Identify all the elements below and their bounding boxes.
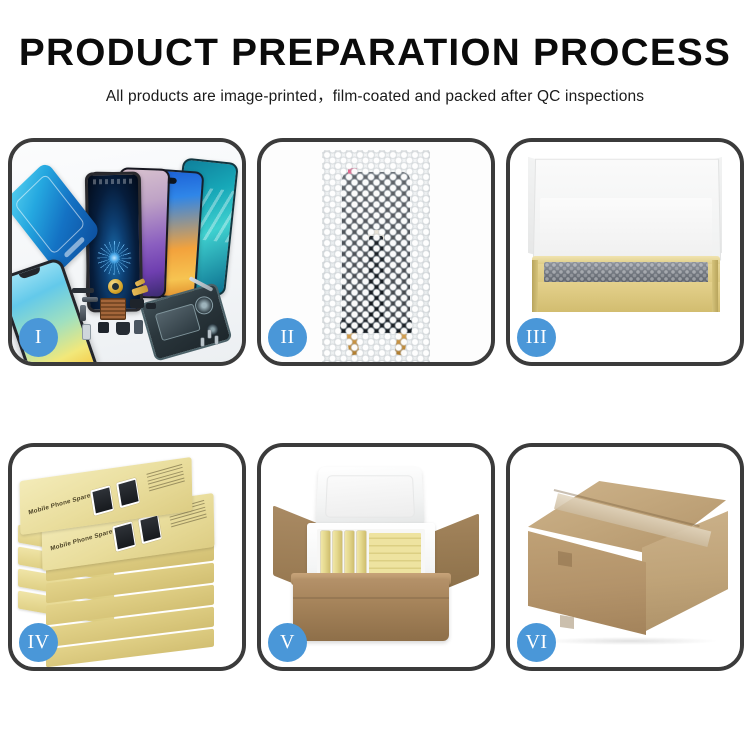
foam-case-lid [315,467,425,527]
screw-part [208,330,211,338]
packed-retail-box-group [369,533,421,575]
retail-box-spec-lines [146,464,185,494]
screw-part [201,338,204,346]
header: PRODUCT PREPARATION PROCESS All products… [0,0,750,106]
ic-chip-part [130,299,144,308]
process-step-panel-5[interactable]: V [257,443,495,671]
connector-part [82,297,98,302]
thumbnail-screen [140,516,160,542]
step-1-illustration: I [12,142,242,362]
step-badge-5: V [268,623,307,662]
process-step-panel-4[interactable]: Mobile Phone Spare Parts Mobile Phone Sp [8,443,246,671]
process-step-panel-2[interactable]: II [257,138,495,366]
step-6-illustration: VI [510,447,740,667]
step-4-illustration: Mobile Phone Spare Parts Mobile Phone Sp [12,447,242,667]
kraft-tray-corner-left [532,260,538,312]
vibrator-part [98,322,109,333]
packed-retail-box [357,531,366,575]
step-5-illustration: V [261,447,491,667]
battery-part [155,303,201,341]
carton-front-wall [293,579,449,641]
thumbnail-screen [118,480,138,506]
retail-box-thumbnail [112,521,136,552]
screw-part [215,336,218,344]
battery-connector-part [134,320,143,334]
step-2-illustration: II [261,142,491,362]
packed-retail-box [321,531,330,575]
kraft-tray-front-wall [532,282,720,312]
step-3-illustration: III [510,142,740,362]
step-badge-4: IV [19,623,58,662]
bubble-wrap-bag [322,150,430,362]
retail-box-thumbnail [90,485,114,516]
carton-patch-lower [560,615,574,629]
process-step-grid: I II [8,138,742,671]
kraft-tray-corner-right [712,260,718,312]
foam-case-interior [317,529,425,577]
packed-retail-box [333,531,342,575]
connector-vertical-part [80,305,86,321]
retail-box-thumbnail [116,478,140,509]
process-step-panel-1[interactable]: I [8,138,246,366]
carton-shadow [544,637,716,645]
antenna-strip-part [72,288,94,293]
camera-lens-icon [193,294,215,316]
phone-front-notch-icon [19,267,42,280]
page-title: PRODUCT PREPARATION PROCESS [0,34,750,72]
bubble-texture-shadow [322,150,430,362]
connector-grid-part [100,298,126,320]
thumbnail-screen [114,524,134,550]
process-step-panel-3[interactable]: III [506,138,744,366]
thumbnail-screen [92,488,112,514]
page-subtitle: All products are image-printed，film-coat… [0,84,750,106]
speaker-coil-part [108,279,123,294]
speaker-module-part [116,322,130,335]
phone-statusbar [93,179,133,185]
step-badge-3: III [517,318,556,357]
process-step-panel-6[interactable]: VI [506,443,744,671]
step-badge-1: I [19,318,58,357]
packed-retail-box [345,531,354,575]
ic-chip-small-part [146,303,156,309]
step-badge-6: VI [517,623,556,662]
step-badge-2: II [268,318,307,357]
retail-box-thumbnail [138,514,162,545]
carton-patch-upper [558,551,572,567]
carton-fold-line [293,597,449,599]
sim-tray-part [82,324,91,340]
